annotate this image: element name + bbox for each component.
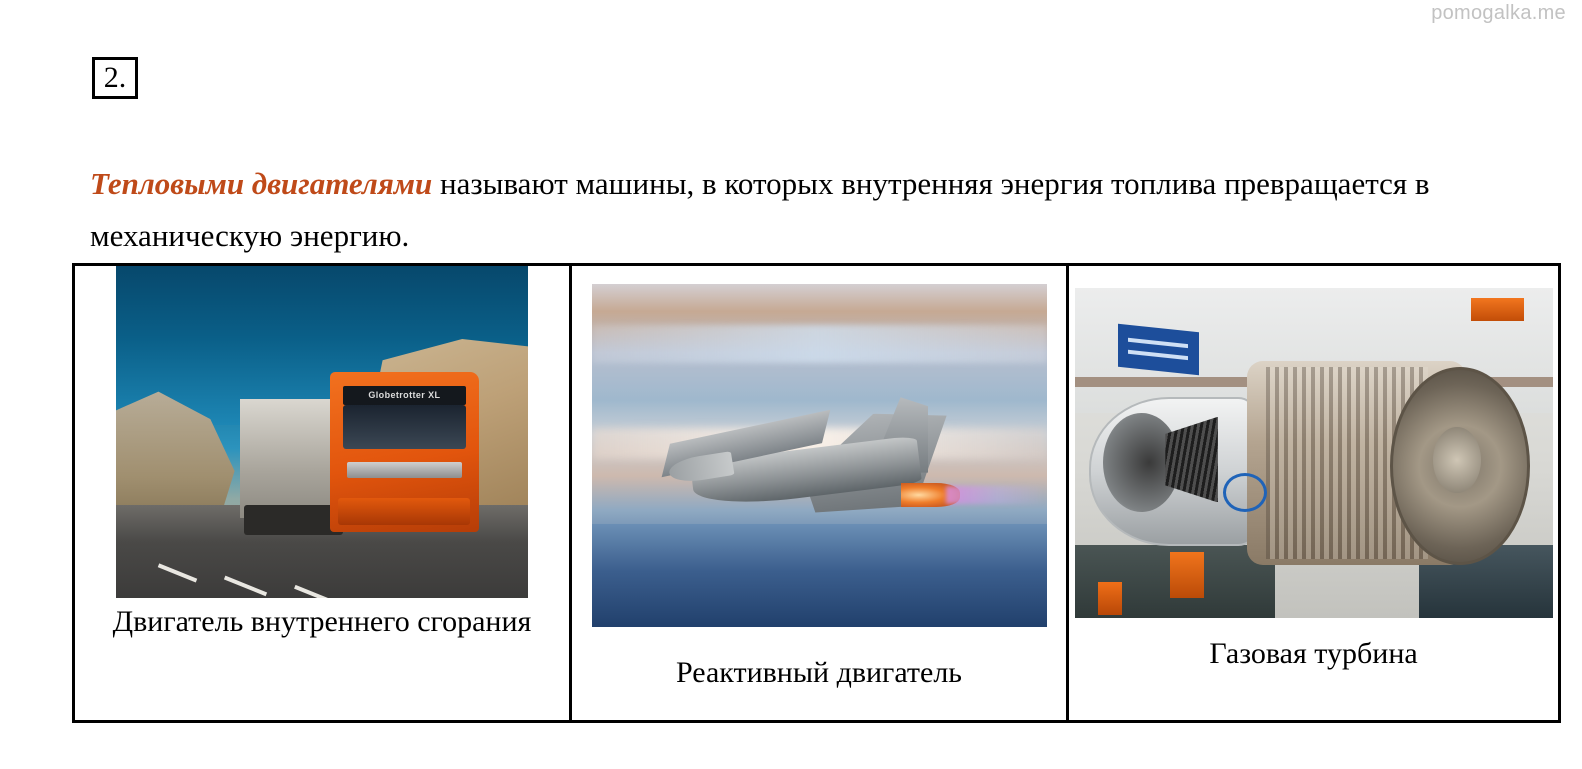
exercise-number-box: 2. <box>92 57 138 99</box>
ocean-region <box>592 524 1047 627</box>
orange-equipment-top <box>1471 298 1524 321</box>
truck-on-mountain-road-photo: Globetrotter XL <box>116 266 528 598</box>
truck-wheels <box>244 505 343 535</box>
truck-cab-text: Globetrotter XL <box>343 386 467 406</box>
truck-bumper <box>338 498 470 525</box>
cloud-band-upper <box>592 325 1047 363</box>
definition-term: Тепловыми двигателями <box>90 166 432 201</box>
blue-circular-marking <box>1223 473 1267 512</box>
truck-grille <box>347 462 462 479</box>
industrial-gas-turbine-photo <box>1075 288 1553 618</box>
engine-types-table: Globetrotter XL Двигатель внутреннего сг… <box>72 263 1561 723</box>
definition-paragraph: Тепловыми двигателями называют машины, в… <box>90 158 1510 262</box>
table-cell-gas-turbine: Газовая турбина <box>1066 266 1558 720</box>
site-watermark: pomogalka.me <box>1431 2 1566 25</box>
blue-information-sign <box>1118 323 1199 374</box>
table-cell-jet-engine: Реактивный двигатель <box>569 266 1066 720</box>
fighter-jet-in-flight-photo <box>592 284 1047 627</box>
table-cell-internal-combustion-engine: Globetrotter XL Двигатель внутреннего сг… <box>75 266 569 720</box>
turbine-rotor-hub <box>1433 427 1481 493</box>
caption-jet-engine: Реактивный двигатель <box>670 649 968 696</box>
caption-gas-turbine: Газовая турбина <box>1203 630 1423 677</box>
caption-internal-combustion-engine: Двигатель внутреннего сгорания <box>107 598 538 645</box>
jet-exhaust-plume <box>946 486 1046 503</box>
orange-equipment-a <box>1170 552 1203 598</box>
orange-equipment-b <box>1098 582 1122 615</box>
truck-windshield <box>343 405 467 448</box>
